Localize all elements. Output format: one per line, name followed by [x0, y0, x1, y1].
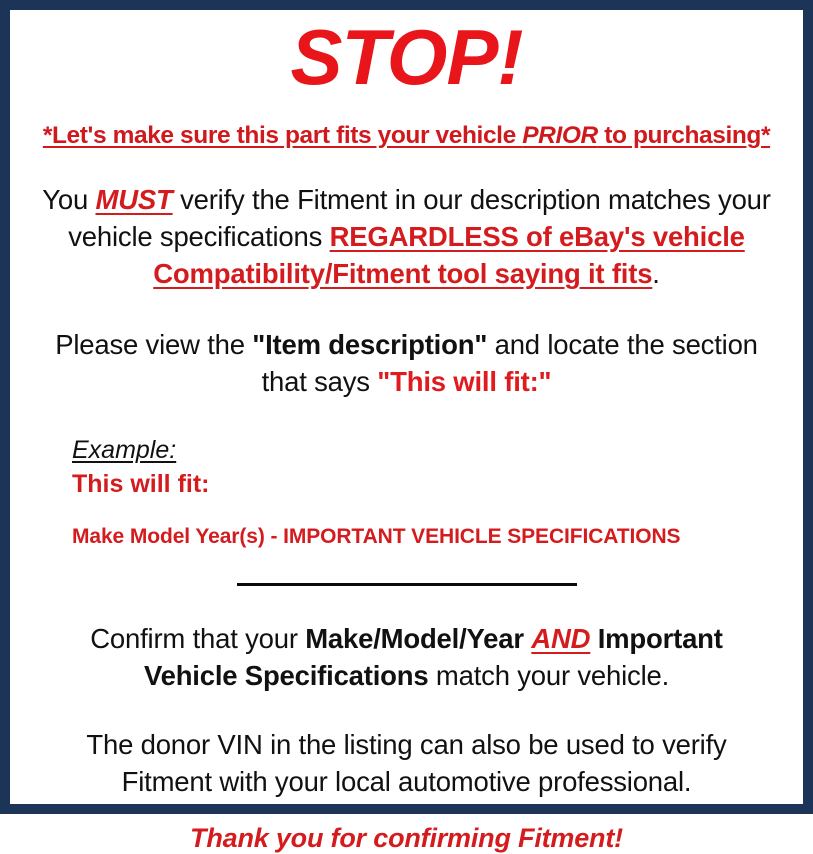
- bold-item-description: "Item description": [252, 329, 487, 360]
- emphasis-must: MUST: [96, 184, 173, 215]
- notice-content: STOP! *Let's make sure this part fits yo…: [10, 18, 803, 812]
- divider: [24, 575, 789, 593]
- example-block: Example: This will fit: Make Model Year(…: [24, 436, 789, 549]
- thanks-message: Thank you for confirming Fitment!: [24, 823, 789, 854]
- subtitle-banner: *Let's make sure this part fits your veh…: [24, 122, 789, 150]
- itemdesc-seg1: Please view the: [55, 329, 252, 360]
- red-quote-this-will-fit: "This will fit:": [377, 366, 551, 397]
- subtitle-lead: *Let's make sure this part fits your veh…: [43, 122, 522, 149]
- subtitle-tail: to purchasing*: [598, 122, 770, 149]
- confirm-seg2: match your vehicle.: [428, 660, 669, 691]
- must-seg3: .: [652, 258, 659, 289]
- page-title: STOP!: [24, 18, 789, 96]
- divider-rule: [237, 583, 577, 586]
- subtitle-emphasis-prior: PRIOR: [522, 122, 598, 149]
- bold-make-model-year: Make/Model/Year: [305, 623, 524, 654]
- paragraph-donor-vin: The donor VIN in the listing can also be…: [24, 727, 789, 801]
- confirm-seg1: Confirm that your: [90, 623, 305, 654]
- paragraph-confirm: Confirm that your Make/Model/Year AND Im…: [24, 621, 789, 695]
- emphasis-and: AND: [531, 623, 590, 654]
- paragraph-item-description: Please view the "Item description" and l…: [24, 327, 789, 401]
- paragraph-must-verify: You MUST verify the Fitment in our descr…: [24, 182, 789, 293]
- example-label: Example:: [72, 436, 789, 466]
- example-fit-label: This will fit:: [72, 469, 789, 500]
- fitment-notice-card: STOP! *Let's make sure this part fits yo…: [0, 0, 813, 814]
- must-seg1: You: [42, 184, 95, 215]
- example-spec-line: Make Model Year(s) - IMPORTANT VEHICLE S…: [72, 524, 789, 549]
